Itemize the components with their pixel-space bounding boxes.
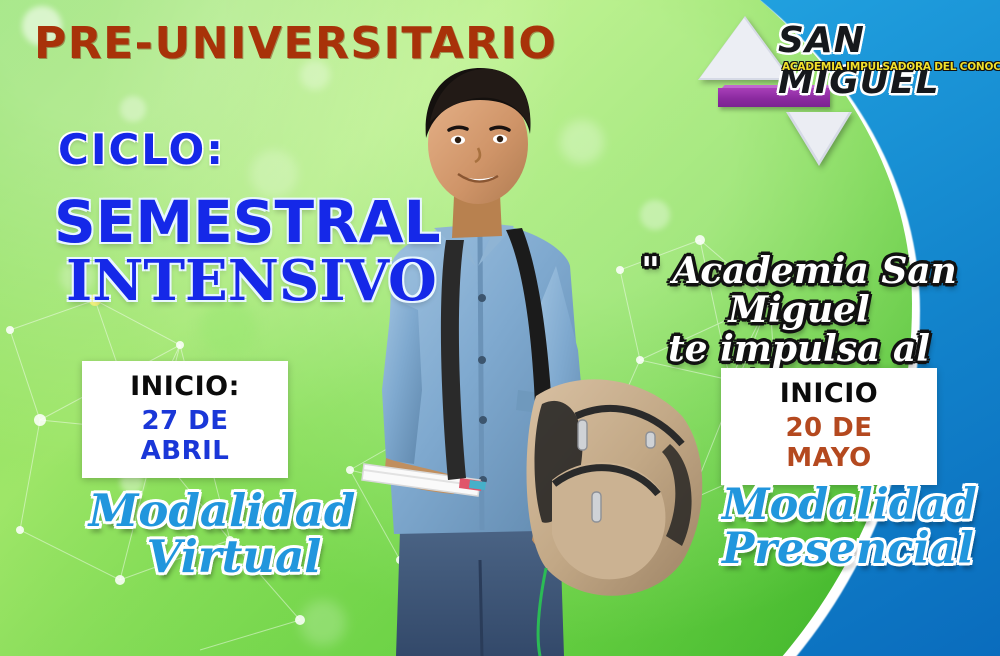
modality-presencial-line2: Presencial <box>722 528 960 572</box>
triangle-up-sheen-icon <box>700 18 788 78</box>
start-card-presencial-date: 20 DE MAYO <box>739 413 919 473</box>
start-card-presencial: INICIO 20 DE MAYO <box>721 368 937 485</box>
modality-presencial-line1: Modalidad <box>722 480 977 530</box>
start-card-presencial-title: INICIO <box>739 378 919 409</box>
start-card-virtual: INICIO: 27 DE ABRIL <box>82 361 288 478</box>
modality-presencial: Modalidad Presencial <box>722 484 960 572</box>
cycle-line-1: SEMESTRAL <box>54 188 441 256</box>
cycle-label: CICLO: <box>58 125 225 174</box>
modality-virtual: Modalidad Virtual <box>88 488 356 580</box>
page-title: PRE-UNIVERSITARIO <box>34 18 557 69</box>
quote-line-1: " Academia San Miguel <box>614 252 984 330</box>
start-card-virtual-title: INICIO: <box>100 371 270 402</box>
cycle-line-2: INTENSIVO <box>66 248 437 314</box>
triangle-down-sheen-icon <box>789 112 849 161</box>
poster-root: PRE-UNIVERSITARIO CICLO: SEMESTRAL INTEN… <box>0 0 1000 656</box>
logo-tagline: ACADEMIA IMPULSADORA DEL CONOCIMIENTO IN… <box>782 61 1000 73</box>
start-card-virtual-date: 27 DE ABRIL <box>100 406 270 466</box>
modality-virtual-line2: Virtual <box>112 534 356 580</box>
